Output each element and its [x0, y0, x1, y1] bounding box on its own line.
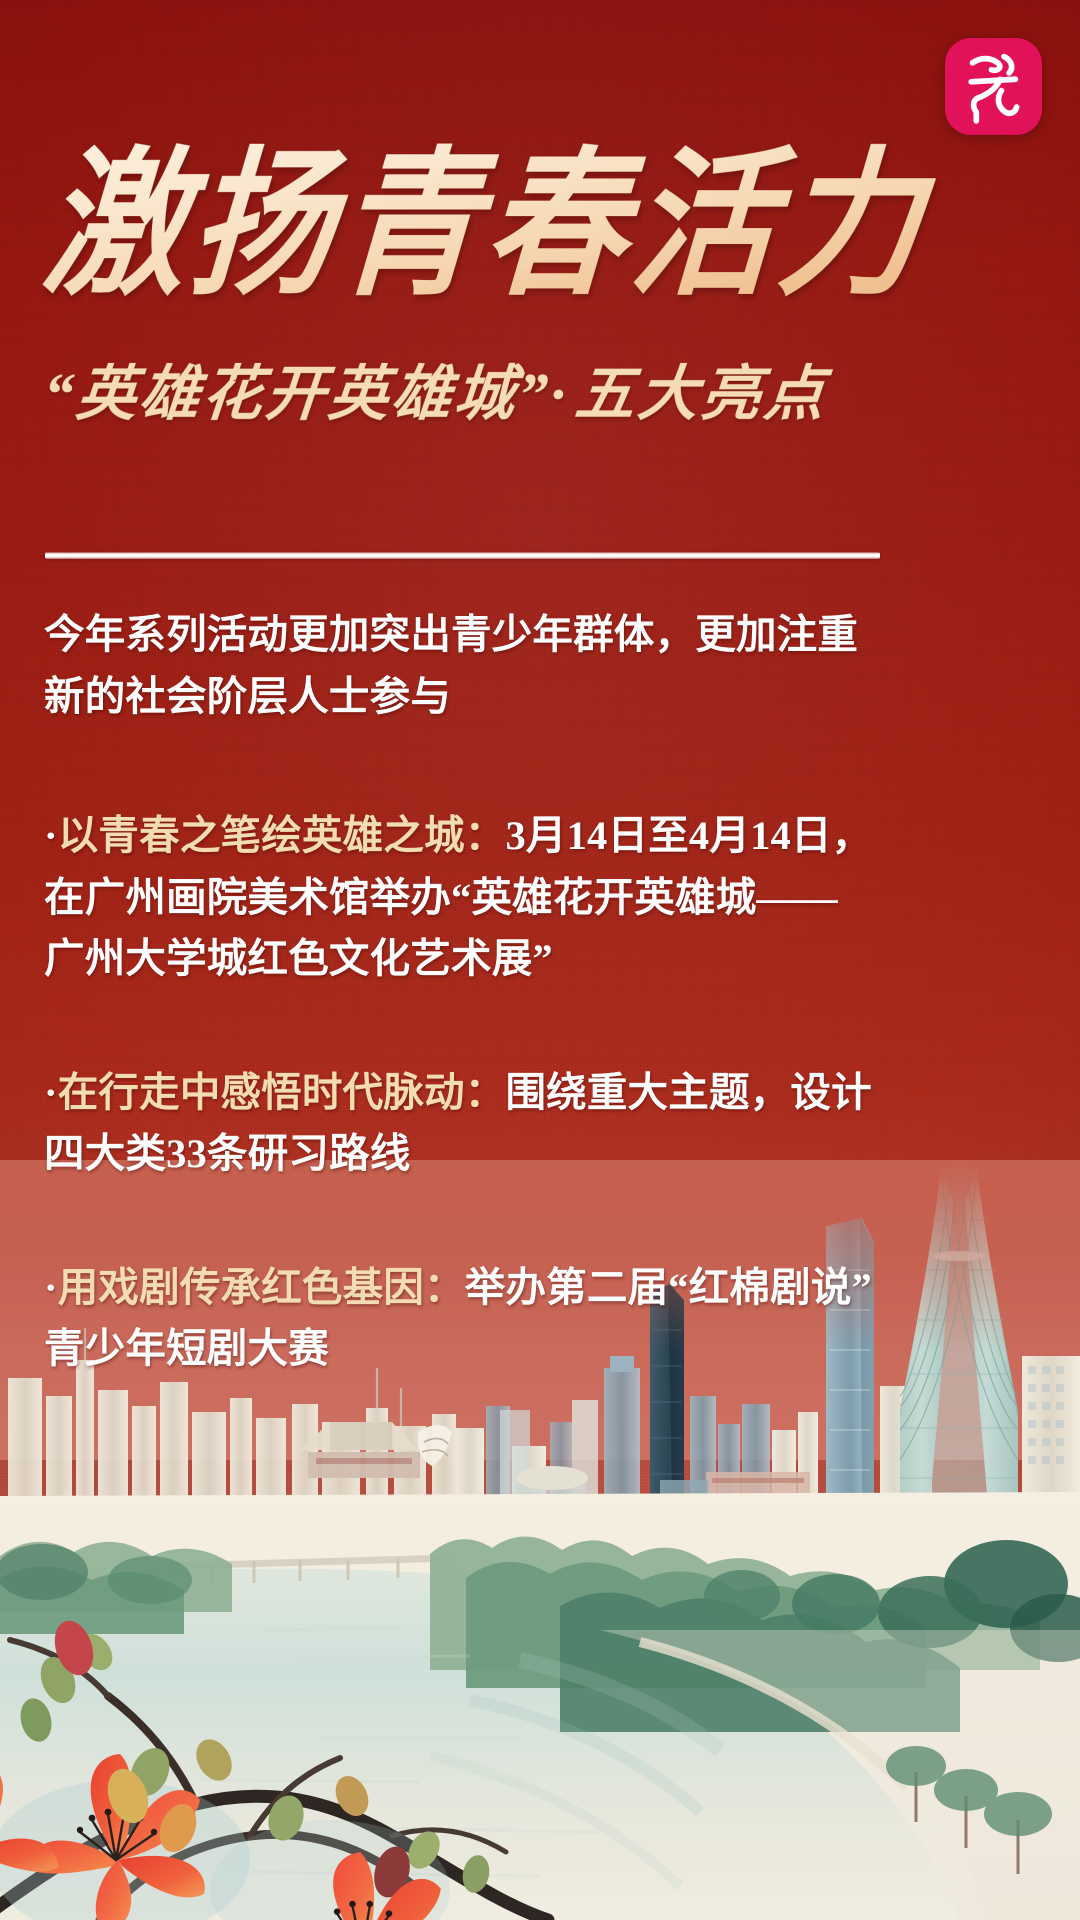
highlight-heading: 在行走中感悟时代脉动：: [58, 1070, 506, 1115]
title-block: 激扬青春活力 “英雄花开英雄城”·五大亮点: [0, 150, 1080, 432]
brand-logo[interactable]: [945, 38, 1042, 135]
subtitle-quoted: “英雄花开英雄城”: [41, 361, 554, 427]
body-copy: 今年系列活动更加突出青少年群体，更加注重新的社会阶层人士参与 ·以青春之笔绘英雄…: [44, 604, 874, 1380]
lead-paragraph: 今年系列活动更加突出青少年群体，更加注重新的社会阶层人士参与: [44, 604, 874, 727]
bullet-marker: ·: [44, 813, 58, 858]
bullet-marker: ·: [44, 1070, 58, 1115]
page-title: 激扬青春活力: [38, 141, 1046, 313]
hua-seal-glyph: [960, 49, 1028, 125]
section-divider: [45, 552, 880, 559]
highlight-heading: 以青春之笔绘英雄之城：: [58, 813, 506, 858]
highlight-item: ·用戏剧传承红色基因：举办第二届“红棉剧说”青少年短剧大赛: [44, 1257, 874, 1380]
highlight-heading: 用戏剧传承红色基因：: [58, 1265, 465, 1310]
subtitle-tail: 五大亮点: [572, 361, 830, 427]
page-subtitle: “英雄花开英雄城”·五大亮点: [40, 345, 1044, 432]
bullet-marker: ·: [44, 1265, 58, 1310]
highlight-item: ·以青春之笔绘英雄之城：3月14日至4月14日，在广州画院美术馆举办“英雄花开英…: [44, 805, 874, 990]
highlight-item: ·在行走中感悟时代脉动：围绕重大主题，设计四大类33条研习路线: [44, 1062, 874, 1185]
poster-root: 激扬青春活力 “英雄花开英雄城”·五大亮点 今年系列活动更加突出青少年群体，更加…: [0, 0, 1080, 1920]
hua-seal-logo-icon[interactable]: [945, 38, 1042, 135]
